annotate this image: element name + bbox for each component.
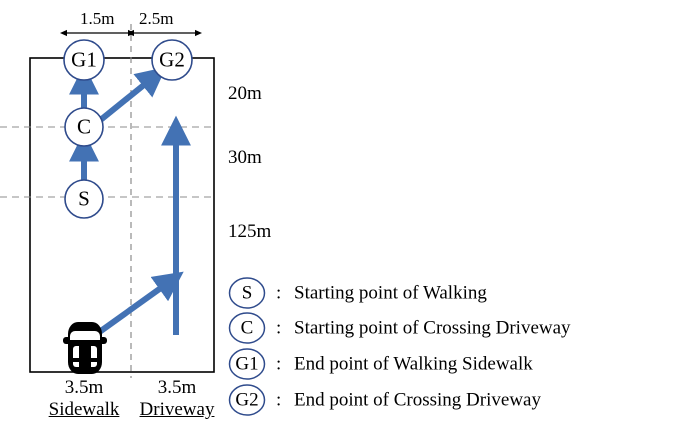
legend-key-c: C <box>241 319 254 338</box>
legend-description-c: Starting point of Crossing Driveway <box>294 319 571 338</box>
node-label-g1: G1 <box>71 50 97 71</box>
legend-description-s: Starting point of Walking <box>294 284 487 303</box>
sidewalk-width-label: 3.5m <box>65 378 104 397</box>
dimension-label-1-5m: 1.5m <box>80 10 114 27</box>
node-label-c: C <box>77 117 91 138</box>
legend-key-g2: G2 <box>235 391 258 410</box>
distance-label-20m: 20m <box>228 84 262 103</box>
sidewalk-name-label: Sidewalk <box>49 400 120 419</box>
legend-separator-c: : <box>276 319 281 338</box>
legend-separator-g1: : <box>276 355 281 374</box>
node-label-g2: G2 <box>159 50 185 71</box>
legend-separator-s: : <box>276 284 281 303</box>
diagram-canvas: 1.5m 2.5m G1 G2 C S 20m 30m 125m 3.5m Si… <box>0 0 676 434</box>
legend-description-g2: End point of Crossing Driveway <box>294 391 541 410</box>
legend-separator-g2: : <box>276 391 281 410</box>
driveway-name-label: Driveway <box>140 400 215 419</box>
legend-key-g1: G1 <box>235 355 258 374</box>
node-label-s: S <box>78 189 90 210</box>
legend-key-s: S <box>242 284 253 303</box>
dimension-label-2-5m: 2.5m <box>139 10 173 27</box>
legend-description-g1: End point of Walking Sidewalk <box>294 355 533 374</box>
distance-label-30m: 30m <box>228 148 262 167</box>
driveway-width-label: 3.5m <box>158 378 197 397</box>
distance-label-125m: 125m <box>228 222 271 241</box>
car-icon <box>63 322 107 374</box>
